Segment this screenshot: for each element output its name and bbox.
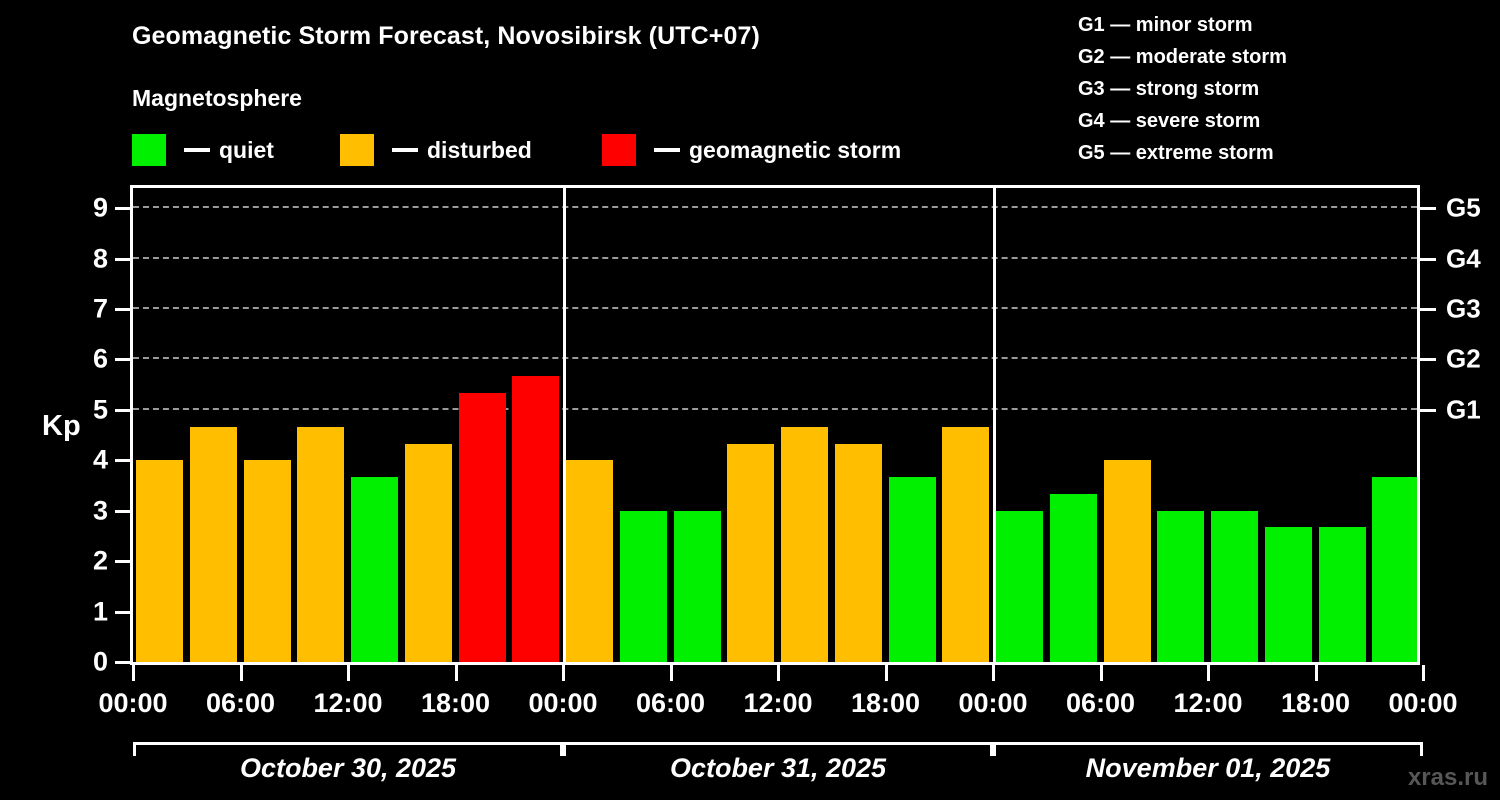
y-tick-label-4: 4 [68, 445, 108, 476]
bar [1050, 494, 1097, 662]
x-tick-label-11: 18:00 [1281, 688, 1350, 719]
y-tick-5 [115, 409, 131, 412]
bar [889, 477, 936, 662]
x-tick-label-9: 06:00 [1066, 688, 1135, 719]
g-legend-row-1: G1 — minor storm [1078, 9, 1287, 41]
y-tick-label-1: 1 [68, 596, 108, 627]
bar [512, 376, 559, 662]
bar [1319, 527, 1366, 662]
y-tick-9 [115, 207, 131, 210]
g-axis-label-G5: G5 [1446, 193, 1481, 224]
bar-series [133, 188, 1417, 662]
bar [1104, 460, 1151, 662]
g-tick-G1 [1420, 409, 1436, 412]
g-legend-row-2: G2 — moderate storm [1078, 41, 1287, 73]
x-tick-label-0: 00:00 [98, 688, 167, 719]
y-tick-label-0: 0 [68, 647, 108, 678]
x-tick-9 [1100, 665, 1103, 681]
y-tick-label-6: 6 [68, 344, 108, 375]
legend-label: geomagnetic storm [689, 137, 901, 164]
x-tick-label-3: 18:00 [421, 688, 490, 719]
legend-dash-icon [654, 148, 680, 152]
x-tick-1 [240, 665, 243, 681]
x-tick-12 [1422, 665, 1425, 681]
x-tick-8 [992, 665, 995, 681]
bar [1211, 511, 1258, 662]
bar [459, 393, 506, 662]
x-tick-6 [777, 665, 780, 681]
y-tick-6 [115, 358, 131, 361]
x-tick-4 [562, 665, 565, 681]
storm-swatch-icon [602, 134, 636, 166]
bar [405, 444, 452, 662]
y-tick-4 [115, 459, 131, 462]
bar [566, 460, 613, 662]
y-tick-label-9: 9 [68, 193, 108, 224]
x-tick-7 [885, 665, 888, 681]
g-tick-G3 [1420, 308, 1436, 311]
x-tick-label-7: 18:00 [851, 688, 920, 719]
bar [136, 460, 183, 662]
bar [727, 444, 774, 662]
y-tick-1 [115, 611, 131, 614]
bar [1265, 527, 1312, 662]
g-legend-row-5: G5 — extreme storm [1078, 137, 1287, 169]
g-axis-label-G1: G1 [1446, 394, 1481, 425]
g-tick-G5 [1420, 207, 1436, 210]
bar [781, 427, 828, 662]
bar [297, 427, 344, 662]
page-title: Geomagnetic Storm Forecast, Novosibirsk … [132, 22, 760, 51]
y-tick-0 [115, 661, 131, 664]
day-label-1: October 30, 2025 [240, 753, 456, 784]
bar [942, 427, 989, 662]
legend-dash-icon [184, 148, 210, 152]
bar [996, 511, 1043, 662]
legend-entry-disturbed: disturbed [340, 134, 532, 166]
bar [244, 460, 291, 662]
day-label-2: October 31, 2025 [670, 753, 886, 784]
legend-entry-storm: geomagnetic storm [602, 134, 901, 166]
quiet-swatch-icon [132, 134, 166, 166]
bar [835, 444, 882, 662]
section-label: Magnetosphere [132, 85, 302, 112]
g-legend-row-3: G3 — strong storm [1078, 73, 1287, 105]
y-tick-label-2: 2 [68, 546, 108, 577]
y-tick-label-3: 3 [68, 495, 108, 526]
x-tick-label-10: 12:00 [1173, 688, 1242, 719]
legend-label: quiet [219, 137, 274, 164]
x-tick-label-8: 00:00 [958, 688, 1027, 719]
g-tick-G4 [1420, 258, 1436, 261]
legend-label: disturbed [427, 137, 532, 164]
bar [351, 477, 398, 662]
disturbed-swatch-icon [340, 134, 374, 166]
x-tick-label-4: 00:00 [528, 688, 597, 719]
y-tick-label-7: 7 [68, 294, 108, 325]
g-axis-label-G4: G4 [1446, 243, 1481, 274]
x-tick-label-1: 06:00 [206, 688, 275, 719]
y-tick-label-8: 8 [68, 243, 108, 274]
x-tick-label-2: 12:00 [313, 688, 382, 719]
x-tick-5 [670, 665, 673, 681]
legend-dash-icon [392, 148, 418, 152]
x-tick-label-5: 06:00 [636, 688, 705, 719]
bar [620, 511, 667, 662]
g-axis-label-G2: G2 [1446, 344, 1481, 375]
x-tick-11 [1315, 665, 1318, 681]
g-scale-legend: G1 — minor stormG2 — moderate stormG3 — … [1078, 9, 1287, 169]
plot-area [130, 185, 1420, 665]
bar [674, 511, 721, 662]
x-tick-10 [1207, 665, 1210, 681]
g-tick-G2 [1420, 358, 1436, 361]
legend-entry-quiet: quiet [132, 134, 274, 166]
g-axis-label-G3: G3 [1446, 294, 1481, 325]
y-tick-2 [115, 560, 131, 563]
watermark: xras.ru [1408, 764, 1488, 792]
bar [1372, 477, 1419, 662]
g-legend-row-4: G4 — severe storm [1078, 105, 1287, 137]
day-label-3: November 01, 2025 [1086, 753, 1331, 784]
x-tick-2 [347, 665, 350, 681]
x-tick-label-12: 00:00 [1388, 688, 1457, 719]
y-axis-label: Kp [42, 410, 81, 443]
color-legend: quietdisturbedgeomagnetic storm [132, 133, 992, 167]
x-tick-label-6: 12:00 [743, 688, 812, 719]
y-tick-7 [115, 308, 131, 311]
bar [1157, 511, 1204, 662]
y-tick-3 [115, 510, 131, 513]
bar [190, 427, 237, 662]
x-tick-0 [132, 665, 135, 681]
x-tick-3 [455, 665, 458, 681]
y-tick-8 [115, 258, 131, 261]
